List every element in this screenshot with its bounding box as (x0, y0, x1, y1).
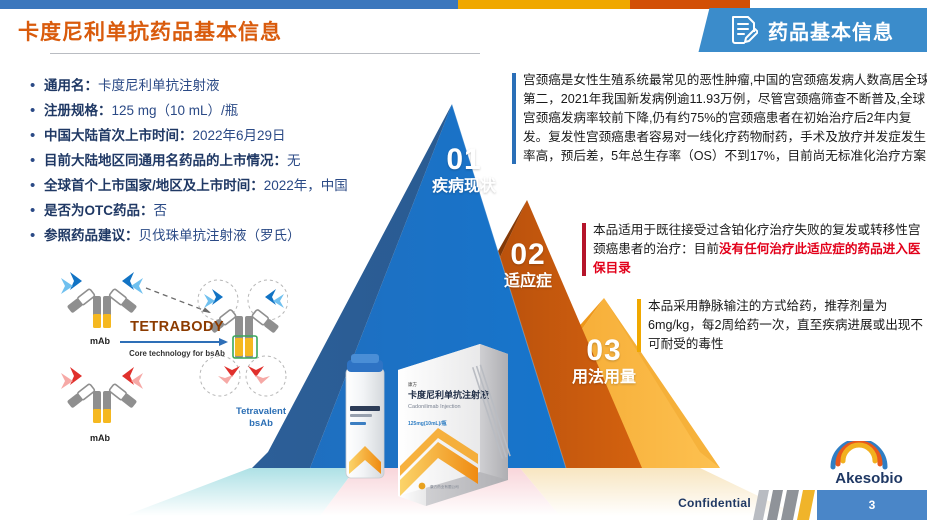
product-imagery: 康方 卡度尼利单抗注射液 Cadonilimab Injection 125mg… (330, 330, 550, 520)
tetravalent-line1: Tetravalent (236, 406, 286, 417)
product-box: 康方 卡度尼利单抗注射液 Cadonilimab Injection 125mg… (392, 344, 511, 506)
header-banner-title: 药品基本信息 (768, 16, 894, 45)
header-banner: 药品基本信息 (699, 8, 927, 52)
mab-label-bottom: mAb (90, 433, 110, 443)
disease-status-text: 宫颈癌是女性生殖系统最常见的恶性肿瘤,中国的宫颈癌发病人数高居全球第二，2021… (523, 71, 927, 166)
tetrabody-arrow-icon (120, 338, 228, 346)
bullet-label: 全球首个上市国家/地区及上市时间： (44, 178, 264, 193)
svg-text:125mg(10mL)/瓶: 125mg(10mL)/瓶 (408, 420, 447, 427)
slide-canvas: 药品基本信息 卡度尼利单抗药品基本信息 • 通用名：卡度尼利单抗注射液 • 注册… (0, 0, 927, 522)
akesobio-logo: Akesobio (819, 441, 919, 487)
bullet-dot-icon: • (30, 201, 44, 221)
text-block-dosage: 本品采用静脉输注的方式给药，推荐剂量为6mg/kg，每2周给药一次，直至疾病进展… (637, 297, 927, 354)
bullet-label: 中国大陆首次上市时间： (44, 128, 193, 143)
bullet-value: 无 (287, 153, 301, 168)
list-item: • 中国大陆首次上市时间：2022年6月29日 (30, 126, 490, 146)
logo-wordmark: Akesobio (835, 470, 903, 487)
dosage-text: 本品采用静脉输注的方式给药，推荐剂量为6mg/kg，每2周给药一次，直至疾病进展… (648, 297, 927, 354)
text-block-disease-status: 宫颈癌是女性生殖系统最常见的恶性肿瘤,中国的宫颈癌发病人数高居全球第二，2021… (512, 71, 927, 166)
product-vial (346, 354, 384, 478)
floor-reflection-blue (124, 468, 356, 516)
accent-bar-red (582, 223, 586, 276)
bullet-label: 注册规格： (44, 103, 112, 118)
bullet-value: 2022年，中国 (264, 178, 348, 193)
bullet-dot-icon: • (30, 101, 44, 121)
pyramid-step-name: 疾病现状 (414, 177, 514, 197)
core-technology-label: Core technology for bsAb (114, 349, 240, 358)
tetrabody-label: TETRABODY (122, 319, 232, 335)
tetrabody-diagram: mAb mAb TETRABODY Core technology for bs… (28, 258, 288, 443)
mab-red-icon (61, 367, 143, 423)
text-block-indication: 本品适用于既往接受过含铂化疗治疗失败的复发或转移性宫颈癌患者的治疗：目前没有任何… (582, 221, 927, 278)
bullet-label: 参照药品建议： (44, 228, 139, 243)
bullet-label: 通用名： (44, 78, 98, 93)
page-number-badge: 3 (817, 490, 927, 520)
bullet-value: 贝伐珠单抗注射液（罗氏） (139, 228, 301, 243)
bullet-value: 否 (154, 203, 168, 218)
svg-text:康方: 康方 (408, 381, 417, 388)
pyramid-label-02: 02 适应症 (487, 240, 569, 292)
mab-label-top: mAb (90, 336, 110, 346)
conversion-arrow-icon (146, 288, 211, 313)
bullet-dot-icon: • (30, 76, 44, 96)
bullet-value: 2022年6月29日 (193, 128, 286, 143)
pyramid-step-name: 适应症 (487, 272, 569, 292)
pyramid-label-01: 01 疾病现状 (414, 145, 514, 197)
top-bar-segment-blue (0, 0, 458, 9)
footer-stripes (753, 490, 821, 520)
bullet-value: 卡度尼利单抗注射液 (98, 78, 220, 93)
logo-arc-icon (833, 441, 885, 467)
svg-text:Cadonilimab Injection: Cadonilimab Injection (408, 404, 461, 410)
pyramid-step-name: 用法用量 (558, 368, 650, 388)
list-item: • 注册规格：125 mg（10 mL）/瓶 (30, 101, 490, 121)
title-divider (50, 53, 480, 54)
tetravalent-line2: bsAb (249, 418, 273, 429)
accent-bar-yellow (637, 299, 641, 352)
pyramid-step-number: 02 (487, 240, 569, 270)
bullet-dot-icon: • (30, 151, 44, 171)
document-edit-icon (730, 15, 758, 45)
confidential-label: Confidential (678, 496, 751, 510)
svg-text:卡度尼利单抗注射液: 卡度尼利单抗注射液 (408, 389, 490, 400)
bullet-dot-icon: • (30, 176, 44, 196)
top-bar-segment-gold (458, 0, 630, 9)
bullet-dot-icon: • (30, 126, 44, 146)
accent-bar-blue (512, 73, 516, 164)
page-title: 卡度尼利单抗药品基本信息 (18, 16, 282, 46)
pyramid-step-number: 01 (414, 145, 514, 175)
bullet-value: 125 mg（10 mL）/瓶 (112, 103, 239, 118)
list-item: • 是否为OTC药品：否 (30, 201, 490, 221)
bullet-dot-icon: • (30, 226, 44, 246)
tetravalent-bsab-icon (198, 280, 288, 396)
bullet-label: 是否为OTC药品： (44, 203, 154, 218)
bullet-label: 目前大陆地区同通用名药品的上市情况： (44, 153, 287, 168)
list-item: • 通用名：卡度尼利单抗注射液 (30, 76, 490, 96)
list-item: • 参照药品建议：贝伐珠单抗注射液（罗氏） (30, 226, 490, 246)
tetravalent-bsab-label: Tetravalent bsAb (218, 406, 304, 430)
svg-text:康方药业有限公司: 康方药业有限公司 (430, 484, 459, 489)
